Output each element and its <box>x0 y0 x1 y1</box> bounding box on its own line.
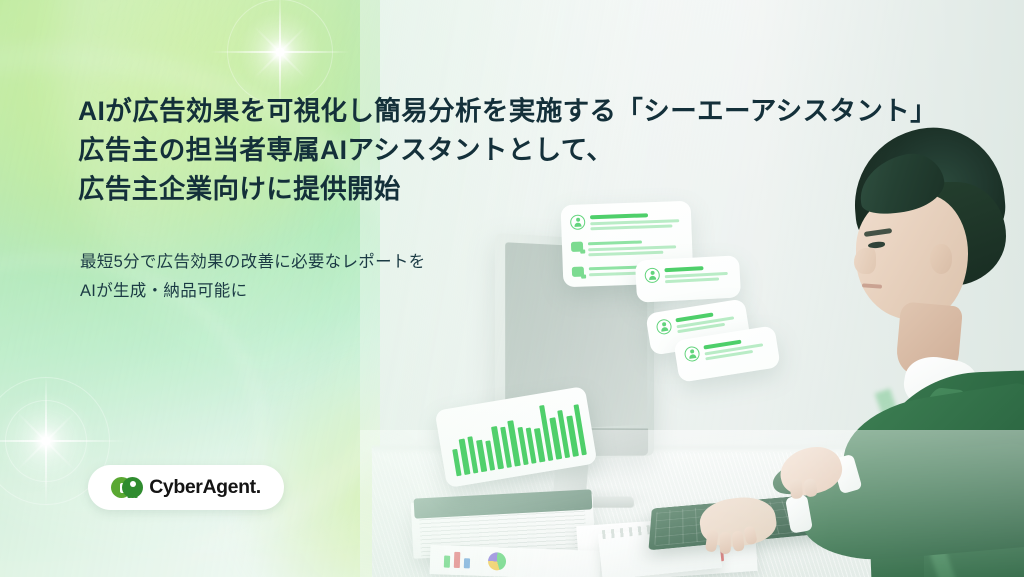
ca-monogram-icon <box>111 477 143 498</box>
headline-line-3: 広告主企業向けに提供開始 <box>78 170 908 209</box>
chat-row <box>644 264 732 285</box>
report-paper-2 <box>430 545 601 577</box>
promo-banner: AIが広告効果を可視化し簡易分析を実施する「シーエーアシスタント」 広告主の担当… <box>0 0 1024 577</box>
bar-graphic <box>464 558 470 568</box>
chat-text-lines <box>703 334 770 360</box>
nose <box>854 248 876 274</box>
chat-text-lines <box>588 238 684 257</box>
chat-line-heading <box>590 213 648 219</box>
user-avatar-icon <box>570 214 586 230</box>
logo-letter-a <box>122 477 143 498</box>
chat-row <box>570 211 683 231</box>
finger <box>720 532 731 554</box>
headline-line-2: 広告主の担当者専属AIアシスタントとして、 <box>78 131 908 170</box>
chat-line <box>590 225 672 231</box>
finger <box>803 478 818 498</box>
user-avatar-icon <box>683 345 700 362</box>
finger <box>790 478 803 499</box>
chat-line <box>665 278 719 284</box>
chat-text-lines <box>675 308 740 334</box>
page-title: AIが広告効果を可視化し簡易分析を実施する「シーエーアシスタント」 広告主の担当… <box>78 92 908 209</box>
subheadline: 最短5分で広告効果の改善に必要なレポートを AIが生成・納品可能に <box>80 248 600 306</box>
chat-line-heading <box>664 266 703 272</box>
bar-chart-bars <box>447 397 587 476</box>
headline-line-1: AIが広告効果を可視化し簡易分析を実施する「シーエーアシスタント」 <box>78 92 908 131</box>
user-avatar-icon <box>655 318 672 335</box>
cyberagent-logo: CyberAgent. <box>88 465 284 510</box>
finger <box>743 525 758 545</box>
bar-graphic <box>444 556 450 568</box>
logo-wordmark: CyberAgent. <box>149 476 261 499</box>
user-avatar-icon <box>644 267 660 283</box>
subheadline-line-1: 最短5分で広告効果の改善に必要なレポートを <box>80 248 600 277</box>
pie-chart-graphic <box>488 552 507 571</box>
chat-text-lines <box>664 264 732 284</box>
subheadline-line-2: AIが生成・納品可能に <box>80 277 600 306</box>
chat-line-heading <box>588 240 642 245</box>
chat-text-lines <box>590 211 684 230</box>
finger <box>732 531 745 552</box>
chat-line <box>588 245 676 251</box>
ear <box>930 244 952 274</box>
bar-graphic <box>454 552 461 568</box>
chat-card-right <box>635 255 741 302</box>
chat-row <box>683 334 769 363</box>
